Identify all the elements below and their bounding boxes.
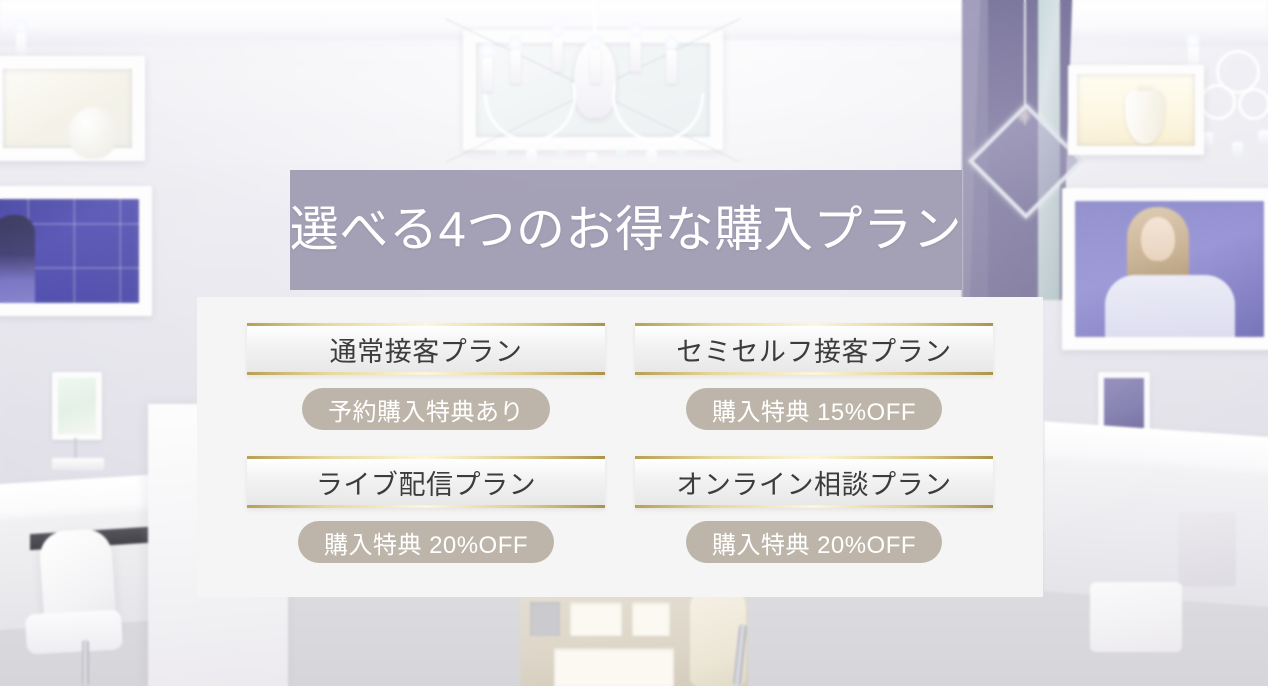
plan-title-label: 通常接客プラン — [330, 330, 523, 369]
headline-banner: 選べる4つのお得な購入プラン — [290, 170, 962, 290]
storage-bin-icon — [1178, 512, 1236, 586]
page-title: 選べる4つのお得な購入プラン — [290, 206, 962, 255]
plan-title-label: セミセルフ接客プラン — [676, 330, 951, 369]
plan-benefit-badge: 購入特典 20%OFF — [298, 521, 554, 563]
plan-card-online-consultation[interactable]: オンライン相談プラン 購入特典 20%OFF — [635, 456, 993, 563]
desk-mirror-base — [52, 458, 104, 470]
plan-title-bar: 通常接客プラン — [247, 323, 605, 375]
plan-title-label: ライブ配信プラン — [316, 463, 536, 502]
plan-benefit-badge: 購入特典 20%OFF — [686, 521, 942, 563]
plan-title-label: オンライン相談プラン — [676, 463, 951, 502]
desk-mirror-stand — [74, 438, 77, 460]
vase-niche-icon — [1068, 65, 1204, 155]
far-chair-icon — [1090, 582, 1182, 652]
salon-chair-leg — [82, 640, 89, 686]
desk-mirror-icon — [52, 372, 102, 440]
plan-title-bar: ライブ配信プラン — [247, 456, 605, 508]
plans-panel: 通常接客プラン 予約購入特典あり セミセルフ接客プラン 購入特典 15%OFF … — [197, 297, 1043, 597]
salon-chair-seat — [25, 610, 123, 655]
plan-card-standard[interactable]: 通常接客プラン 予約購入特典あり — [247, 323, 605, 430]
plan-card-semi-self[interactable]: セミセルフ接客プラン 購入特典 15%OFF — [635, 323, 993, 430]
plan-title-bar: オンライン相談プラン — [635, 456, 993, 508]
wall-mirror-icon — [0, 56, 145, 161]
promo-banner-stage: 選べる4つのお得な購入プラン 通常接客プラン 予約購入特典あり セミセルフ接客プ… — [0, 0, 1268, 686]
plan-card-live-streaming[interactable]: ライブ配信プラン 購入特典 20%OFF — [247, 456, 605, 563]
plans-grid: 通常接客プラン 予約購入特典あり セミセルフ接客プラン 購入特典 15%OFF … — [247, 323, 993, 563]
framed-portrait-icon — [1062, 188, 1268, 350]
plan-benefit-badge: 予約購入特典あり — [302, 388, 550, 430]
picture-frame-icon — [0, 186, 152, 316]
chandelier-icon — [470, 0, 720, 177]
plan-title-bar: セミセルフ接客プラン — [635, 323, 993, 375]
plan-benefit-badge: 購入特典 15%OFF — [686, 388, 942, 430]
